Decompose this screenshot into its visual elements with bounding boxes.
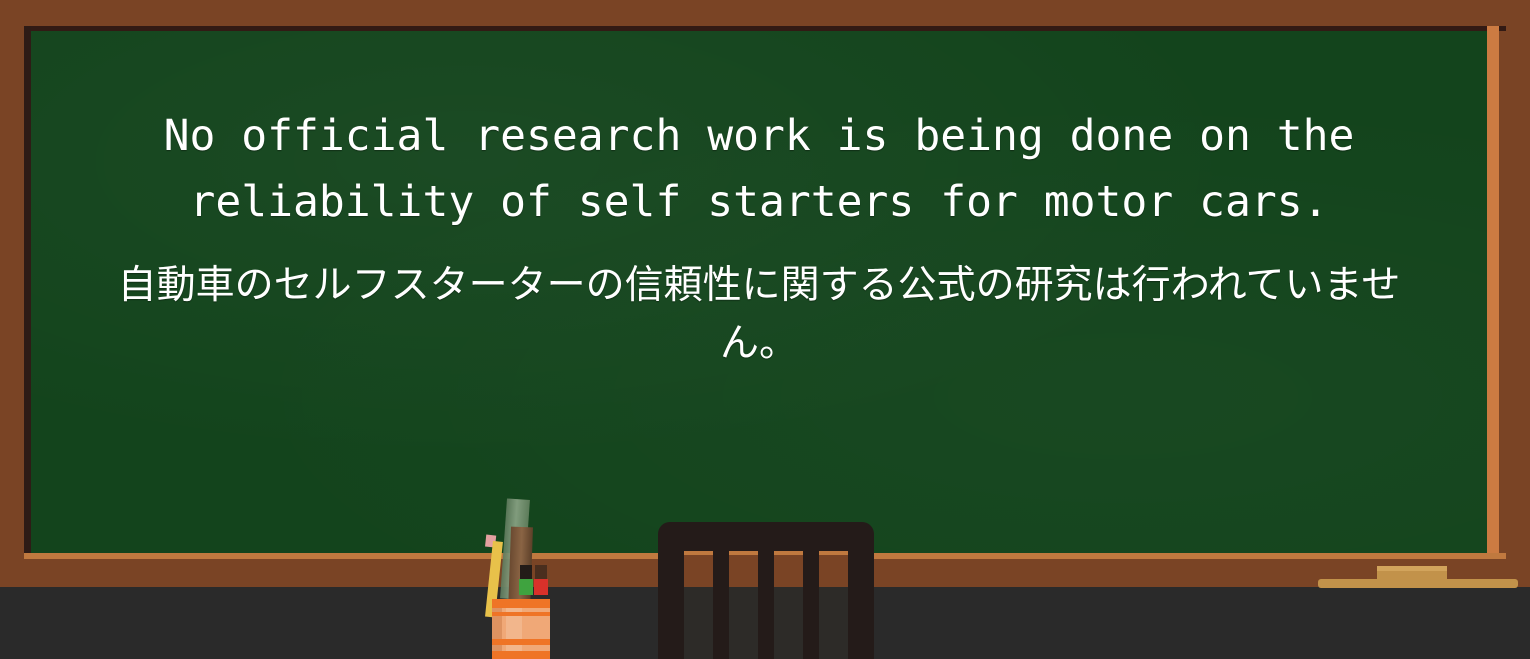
chair-slat-upper [774,551,803,587]
chair-slat-lower [819,587,848,659]
pencil-cup-group [470,495,580,659]
chalkboard-text-block: No official research work is being done … [31,31,1487,373]
marker-barrel [534,579,548,595]
chair-slat [684,551,713,659]
chair-slat-lower [774,587,803,659]
chair-slat-upper [729,551,758,587]
english-sentence: No official research work is being done … [43,103,1475,235]
chair-slat-upper [819,551,848,587]
pencil-cup-band [492,639,550,645]
pencil-cup-band [492,612,550,616]
board-eraser-highlight [1377,566,1447,571]
chair-slat [774,551,803,659]
pencil-cup-shadow [492,599,502,659]
marker-barrel [519,579,533,595]
chair-slat [729,551,758,659]
chair-slat-lower [729,587,758,659]
pencil-cup-band [492,651,550,659]
pencil-cup-rim [492,599,550,608]
marker-cap [520,565,532,579]
chalkboard-scene: No official research work is being done … [0,0,1530,659]
japanese-sentence: 自動車のセルフスターターの信頼性に関する公式の研究は行われていません。 [91,257,1427,373]
chair-slat-upper [684,551,713,587]
chalk-stick [1318,579,1518,588]
frame-bevel-right [1487,26,1499,558]
pencil-cup [492,599,550,659]
chair-slat-lower [684,587,713,659]
chair-slat [819,551,848,659]
red-marker [534,565,548,595]
marker-cap [535,565,547,579]
frame-bevel-left [24,26,31,558]
chalkboard-surface: No official research work is being done … [31,31,1487,553]
classroom-chair [658,522,874,659]
green-marker [519,565,533,595]
